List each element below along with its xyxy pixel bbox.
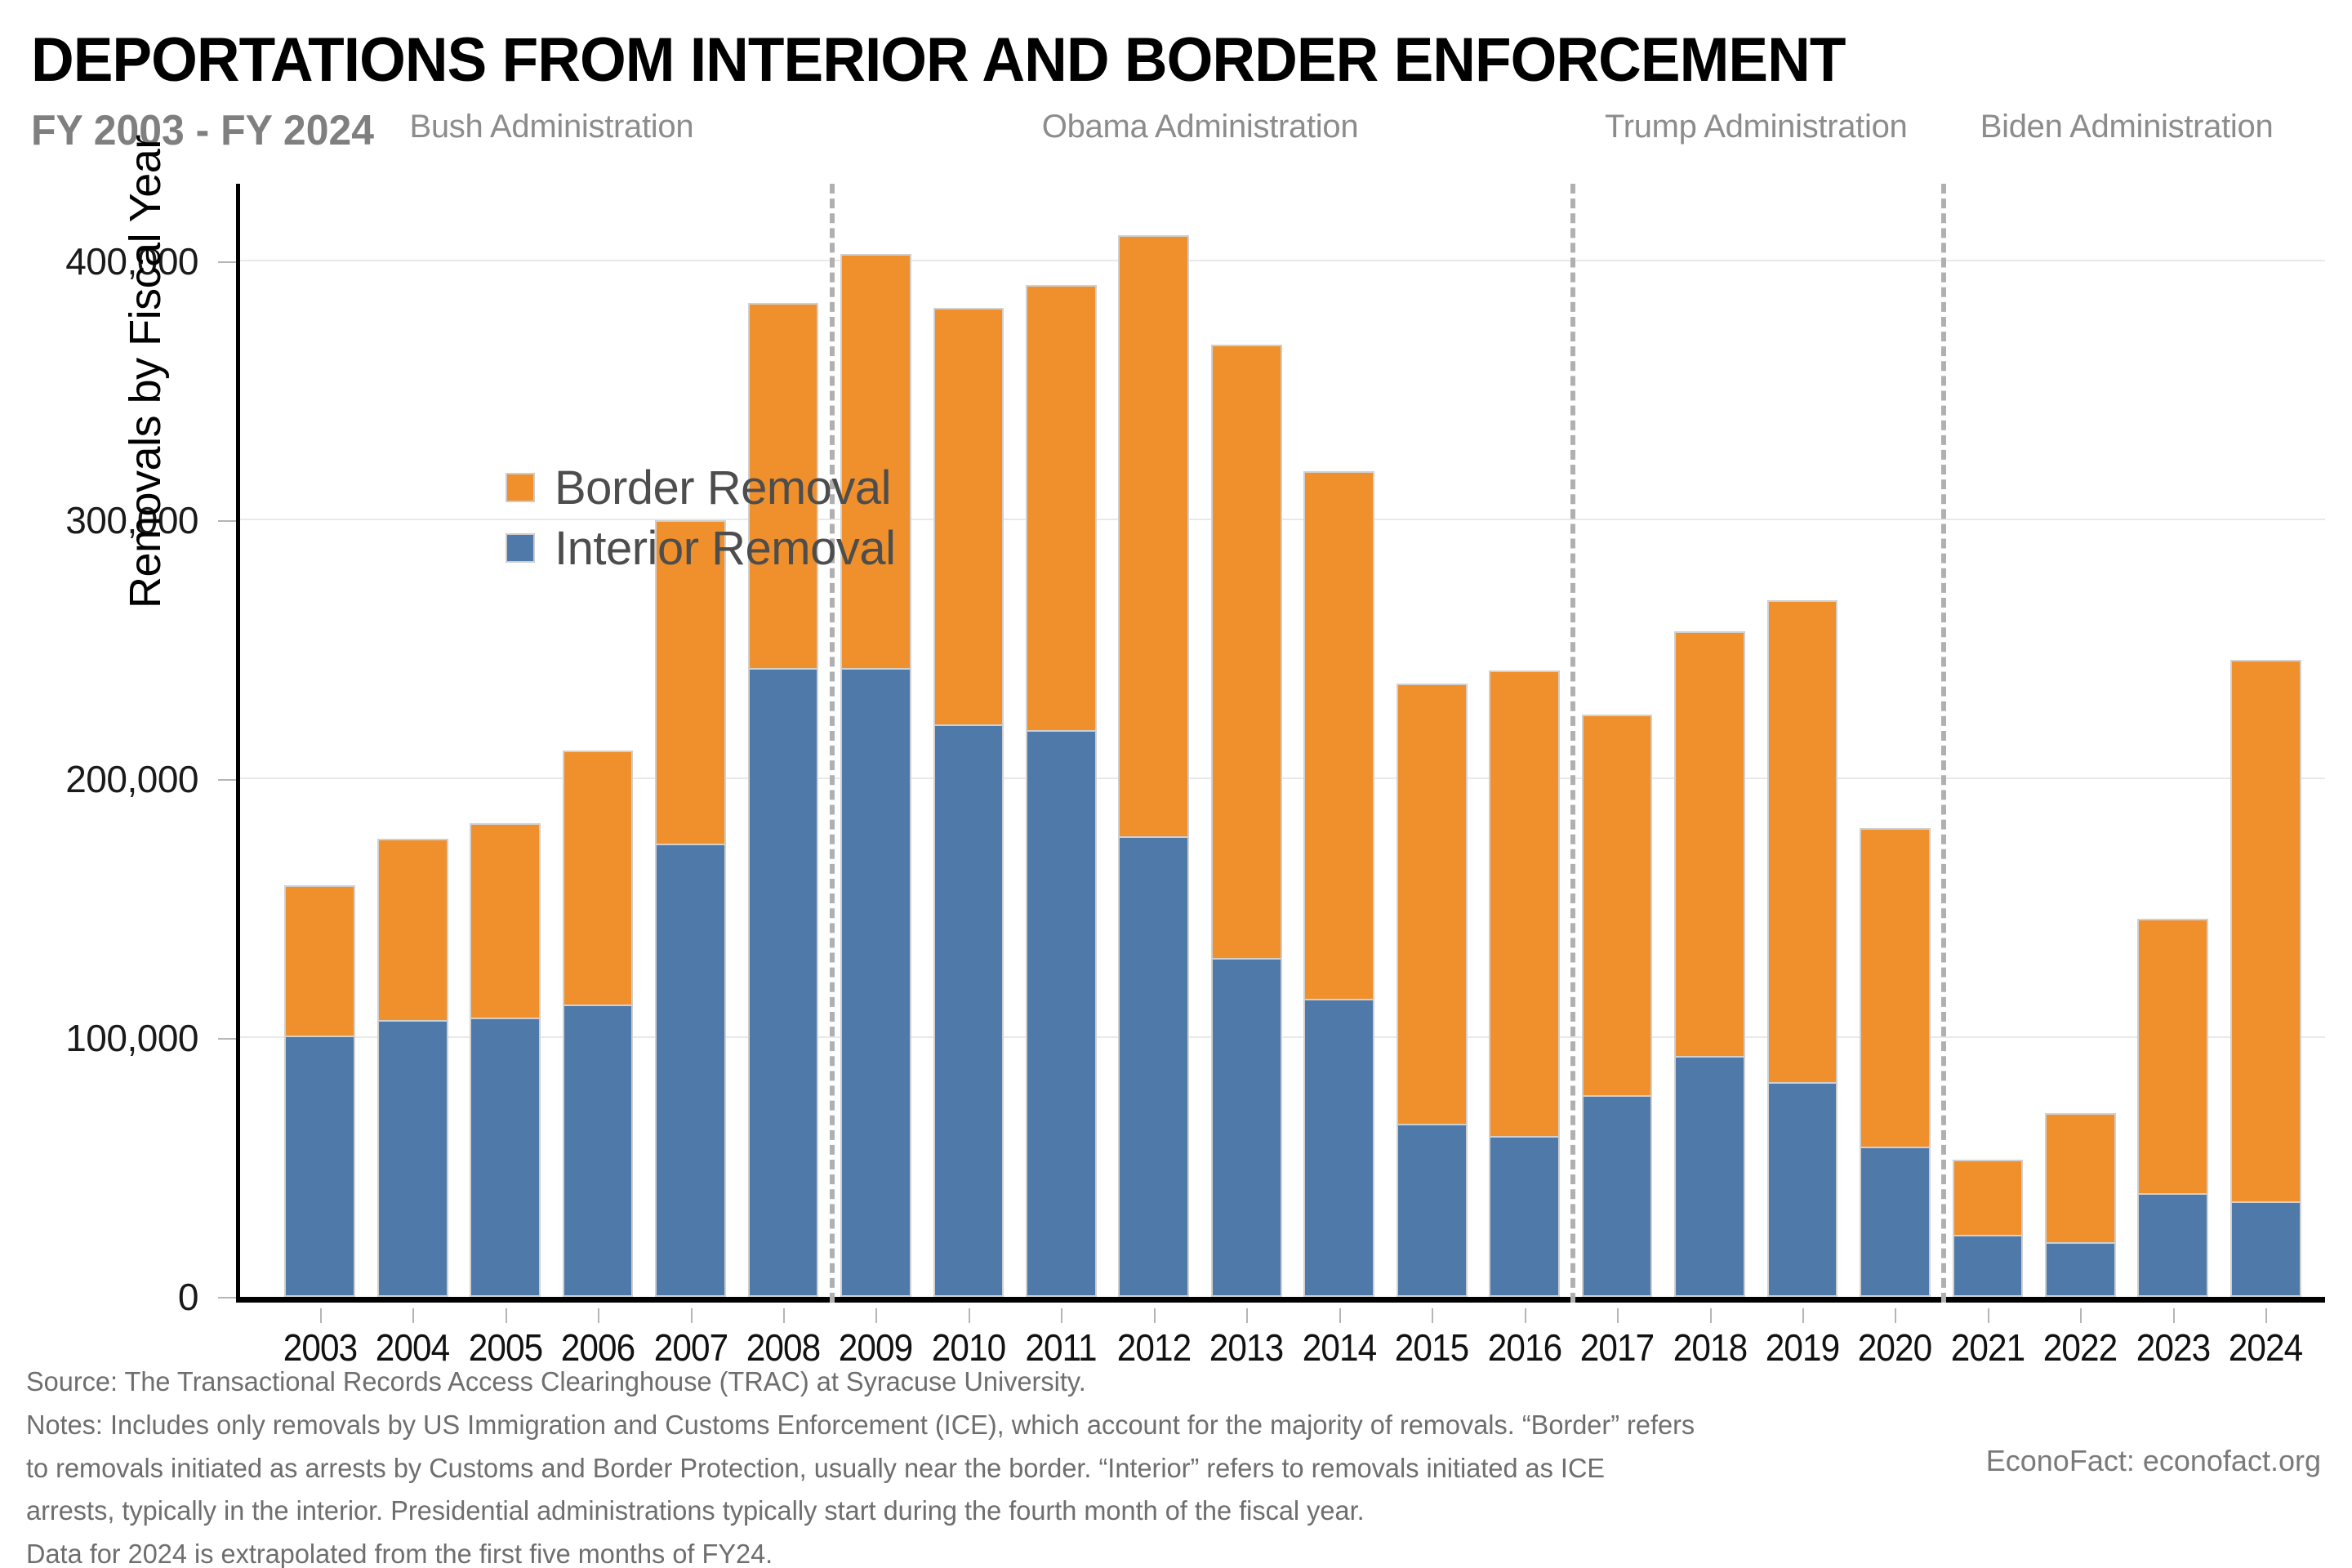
footer-notes-line1: Notes: Includes only removals by US Immi… [26,1405,1820,1445]
legend-item-interior[interactable]: Interior Removal [506,518,895,578]
bar-segment-border [1026,285,1097,730]
bar-segment-interior [284,1036,355,1297]
bar-2006[interactable] [563,751,634,1297]
bar-segment-interior [655,844,726,1297]
x-axis-tick-mark [412,1308,414,1323]
bar-2009[interactable] [840,254,911,1297]
bar-2008[interactable] [748,303,819,1297]
bar-segment-border [1860,828,1931,1147]
bar-segment-interior [1026,730,1097,1297]
y-axis-tick-mark [218,1297,236,1298]
gridline [240,777,2325,779]
x-axis-tick-mark [783,1308,785,1323]
bar-2014[interactable] [1303,471,1374,1297]
bar-segment-border [563,751,634,1004]
bar-segment-border [2230,660,2301,1200]
bar-2020[interactable] [1860,828,1931,1297]
footer-source: Source: The Transactional Records Access… [26,1362,1820,1402]
bar-2010[interactable] [933,308,1004,1297]
bar-segment-border [1953,1160,2024,1235]
bar-2016[interactable] [1489,670,1560,1297]
bar-segment-border [1211,345,1282,958]
bar-segment-interior [2137,1193,2208,1297]
x-axis-tick-2024: 2024 [2229,1325,2302,1370]
x-axis-tick-mark [691,1308,693,1323]
bar-segment-border [470,823,541,1018]
bar-segment-interior [1674,1056,1745,1297]
admin-divider-after-2020 [1941,184,1946,1303]
x-axis-tick-mark [1432,1308,1433,1323]
footer-notes: Source: The Transactional Records Access… [26,1362,1820,1568]
bar-segment-interior [377,1020,448,1297]
bar-2019[interactable] [1767,600,1838,1297]
admin-divider-after-2016 [1570,184,1575,1303]
x-axis-line [236,1297,2325,1303]
bar-segment-interior [1860,1147,1931,1297]
bar-2024[interactable] [2230,660,2301,1297]
y-axis-label: Removals by Fiscal Year [120,135,171,608]
bar-segment-interior [563,1004,634,1297]
x-axis-tick-mark [2080,1308,2082,1323]
legend-label-border: Border Removal [555,461,891,515]
brand-attribution: EconoFact: econofact.org [1986,1444,2321,1478]
bar-segment-interior [933,724,1004,1297]
bar-segment-border [933,308,1004,724]
admin-label-trump: Trump Administration [1605,109,1907,145]
bar-segment-interior [1396,1124,1468,1297]
legend: Border Removal Interior Removal [506,457,895,578]
bar-2015[interactable] [1396,684,1468,1297]
bar-segment-border [1396,684,1468,1124]
x-axis-tick-2023: 2023 [2136,1325,2210,1370]
footer-notes-line4: Data for 2024 is extrapolated from the f… [26,1535,1820,1568]
x-axis-tick-mark [875,1308,877,1323]
gridline [240,1036,2325,1038]
bar-2003[interactable] [284,885,355,1297]
x-axis-tick-mark [1339,1308,1341,1323]
bar-segment-border [284,885,355,1036]
bar-segment-interior [1489,1136,1560,1297]
bar-2012[interactable] [1118,235,1189,1297]
bar-segment-border [1582,715,1653,1095]
bar-2018[interactable] [1674,631,1745,1297]
bar-segment-border [2137,919,2208,1193]
y-axis-tick-label: 0 [178,1275,198,1319]
chart-page: DEPORTATIONS FROM INTERIOR AND BORDER EN… [0,0,2352,1568]
bar-2013[interactable] [1211,345,1282,1297]
x-axis-tick-mark [1154,1308,1156,1323]
bar-2004[interactable] [377,839,448,1297]
bar-segment-border [1489,670,1560,1137]
x-axis-tick-mark [1988,1308,1989,1323]
bar-segment-interior [1953,1235,2024,1297]
bar-2022[interactable] [2045,1113,2116,1297]
page-title: DEPORTATIONS FROM INTERIOR AND BORDER EN… [31,24,1845,96]
bar-segment-interior [748,668,819,1297]
bar-2005[interactable] [470,823,541,1297]
x-axis-tick-mark [598,1308,599,1323]
x-axis-tick-mark [1710,1308,1712,1323]
bar-segment-interior [1767,1082,1838,1297]
x-axis-tick-mark [1617,1308,1619,1323]
y-axis-tick-mark [218,779,236,781]
footer-notes-line2: to removals initiated as arrests by Cust… [26,1449,1820,1489]
y-axis-tick-label: 100,000 [65,1016,198,1060]
y-axis-tick-mark [218,1038,236,1040]
x-axis-tick-mark [1802,1308,1804,1323]
legend-label-interior: Interior Removal [555,521,895,576]
x-axis-tick-mark [1525,1308,1526,1323]
y-axis-line [236,184,240,1303]
x-axis-tick-2020: 2020 [1858,1325,1931,1370]
admin-label-biden: Biden Administration [1980,109,2274,145]
bar-segment-border [1118,235,1189,835]
bar-2011[interactable] [1026,285,1097,1297]
bar-segment-interior [2045,1242,2116,1297]
bar-segment-border [1303,471,1374,1000]
bar-2017[interactable] [1582,715,1653,1297]
bar-segment-interior [1211,958,1282,1297]
x-axis-tick-2022: 2022 [2043,1325,2117,1370]
legend-swatch-border-icon [506,473,535,502]
x-axis-tick-mark [1246,1308,1248,1323]
bar-2023[interactable] [2137,919,2208,1297]
admin-divider-after-2008 [830,184,835,1303]
y-axis-tick-mark [218,261,236,263]
bar-segment-interior [470,1018,541,1297]
admin-label-obama: Obama Administration [1042,109,1359,145]
x-axis-tick-mark [1895,1308,1896,1323]
bar-segment-border [377,839,448,1020]
x-axis-tick-2021: 2021 [1951,1325,2025,1370]
bar-segment-interior [1582,1095,1653,1297]
legend-swatch-interior-icon [506,533,535,563]
legend-item-border[interactable]: Border Removal [506,457,895,518]
bar-segment-interior [1303,999,1374,1297]
bar-segment-border [1767,600,1838,1082]
bar-segment-border [1674,631,1745,1056]
gridline [240,260,2325,261]
bar-segment-interior [1118,836,1189,1297]
bar-segment-border [2045,1113,2116,1242]
x-axis-tick-mark [320,1308,322,1323]
y-axis-tick-label: 200,000 [65,757,198,801]
bar-2007[interactable] [655,520,726,1297]
x-axis-tick-mark [2173,1308,2175,1323]
y-axis-tick-mark [218,520,236,522]
x-axis-tick-mark [506,1308,507,1323]
x-axis-tick-mark [1061,1308,1062,1323]
bar-segment-interior [2230,1201,2301,1297]
admin-label-bush: Bush Administration [409,109,693,145]
x-axis-tick-mark [2265,1308,2267,1323]
bar-2021[interactable] [1953,1160,2024,1297]
x-axis-tick-mark [969,1308,970,1323]
bar-segment-interior [840,668,911,1297]
footer-notes-line3: arrests, typically in the interior. Pres… [26,1491,1820,1531]
page-subtitle: FY 2003 - FY 2024 [31,106,374,155]
plot-area: 0100,000200,000300,000400,000 Removals b… [236,184,2325,1303]
